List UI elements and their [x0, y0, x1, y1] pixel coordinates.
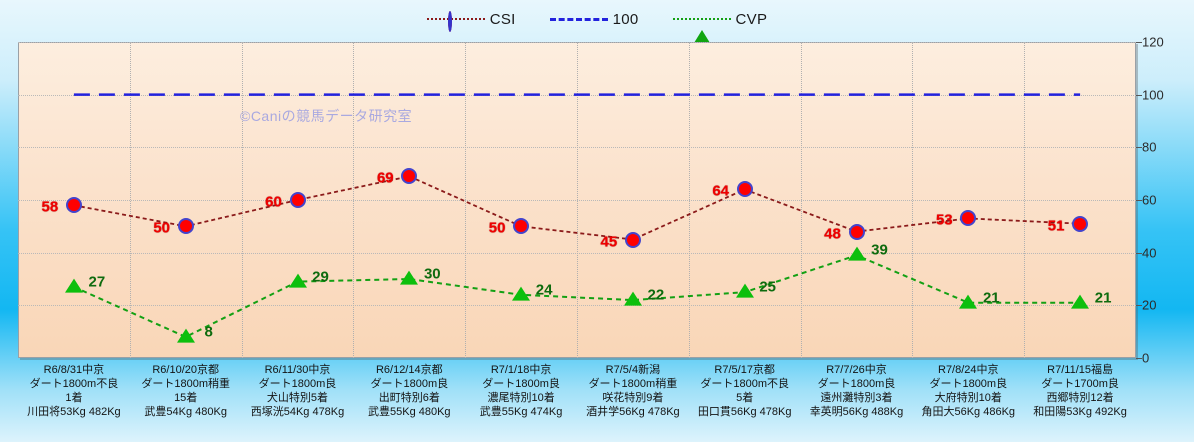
legend-label-cvp: CVP	[736, 11, 768, 28]
x-axis-label-line-course: ダート1800m良	[370, 378, 448, 391]
csi-data-label: 51	[1048, 217, 1065, 234]
x-axis-label-line-jockey: 武豊55Kg 474Kg	[480, 406, 563, 419]
y-axis-tick-label: 80	[1142, 140, 1156, 155]
cvp-data-point[interactable]	[624, 292, 642, 306]
y-axis-tick-mark	[1136, 42, 1142, 43]
x-axis-label-line-course: ダート1800m良	[818, 378, 896, 391]
x-axis-label-line-date: R6/11/30中京	[265, 364, 331, 377]
x-axis-label-line-race: 犬山特別5着	[267, 392, 328, 405]
x-axis-label-line-date: R7/5/17京都	[714, 364, 775, 377]
y-axis-tick-mark	[1136, 147, 1142, 148]
csi-data-label: 58	[42, 199, 59, 216]
x-axis-label-line-race: 5着	[736, 392, 753, 405]
y-axis-tick-label: 40	[1142, 245, 1156, 260]
csi-data-label: 60	[265, 194, 282, 211]
x-axis-label-line-course: ダート1800m良	[482, 378, 560, 391]
series-line	[74, 255, 1080, 337]
cvp-data-point[interactable]	[289, 273, 307, 287]
x-axis-label-group: R7/8/24中京ダート1800m良大府特別10着角田大56Kg 486Kg	[912, 362, 1024, 440]
csi-data-point[interactable]	[1072, 216, 1088, 232]
x-axis-label-line-date: R7/7/26中京	[826, 364, 887, 377]
y-axis-tick-mark	[1136, 95, 1142, 96]
csi-data-point[interactable]	[737, 181, 753, 197]
x-axis-label-line-race: 咲花特別9着	[602, 392, 663, 405]
csi-data-label: 50	[489, 220, 506, 237]
y-axis-tick-mark	[1136, 305, 1142, 306]
x-axis-label-line-jockey: 西塚洸54Kg 478Kg	[251, 406, 345, 419]
csi-data-label: 69	[377, 170, 394, 187]
csi-data-label: 48	[824, 225, 841, 242]
x-axis-label-line-date: R6/12/14京都	[376, 364, 443, 377]
x-axis-label-line-race: 濃尾特別10着	[487, 392, 554, 405]
csi-data-point[interactable]	[513, 218, 529, 234]
cvp-data-point[interactable]	[512, 286, 530, 300]
cvp-data-label: 8	[205, 323, 213, 340]
y-axis-tick-label: 120	[1142, 35, 1164, 50]
series-line	[74, 176, 1080, 239]
race-performance-chart: CSI 100 CVP ©Caniの競馬データ研究室 5850606950456…	[0, 0, 1194, 442]
x-axis-label-group: R7/5/4新潟ダート1800m稍重咲花特別9着酒井学56Kg 478Kg	[577, 362, 689, 440]
legend-item-csi[interactable]: CSI	[427, 11, 516, 28]
x-axis-label-line-date: R7/5/4新潟	[606, 364, 660, 377]
x-axis-label-line-date: R7/1/18中京	[491, 364, 552, 377]
x-axis-label-line-jockey: 田口貫56Kg 478Kg	[698, 406, 792, 419]
x-axis-label-line-race: 遠州灘特別3着	[820, 392, 892, 405]
x-axis-label-group: R6/10/20京都ダート1800m稍重15着武豊54Kg 480Kg	[130, 362, 242, 440]
series-lines	[18, 42, 1136, 358]
y-axis-tick-label: 60	[1142, 193, 1156, 208]
cvp-data-point[interactable]	[65, 278, 83, 292]
x-axis-label-line-jockey: 武豊55Kg 480Kg	[368, 406, 451, 419]
cvp-data-point[interactable]	[1071, 294, 1089, 308]
csi-data-point[interactable]	[849, 224, 865, 240]
x-axis-labels: R6/8/31中京ダート1800m不良1着川田将53Kg 482KgR6/10/…	[18, 362, 1136, 440]
csi-data-label: 45	[601, 233, 618, 250]
x-axis-label-line-race: 出町特別6着	[379, 392, 440, 405]
legend-label-100: 100	[613, 11, 639, 28]
cvp-data-point[interactable]	[736, 284, 754, 298]
x-axis-label-group: R6/8/31中京ダート1800m不良1着川田将53Kg 482Kg	[18, 362, 130, 440]
csi-data-point[interactable]	[290, 192, 306, 208]
csi-data-point[interactable]	[401, 168, 417, 184]
x-axis-label-line-course: ダート1800m稍重	[589, 378, 678, 391]
cvp-data-label: 39	[871, 242, 888, 259]
cvp-data-label: 29	[312, 268, 329, 285]
circle-marker-icon	[448, 13, 452, 31]
x-axis-label-line-jockey: 川田将53Kg 482Kg	[27, 406, 121, 419]
x-axis-label-line-course: ダート1800m稍重	[141, 378, 230, 391]
x-axis-label-line-date: R6/10/20京都	[152, 364, 219, 377]
dashed-line-icon	[550, 18, 608, 21]
y-axis-tick-mark	[1136, 200, 1142, 201]
legend-item-cvp[interactable]: CVP	[673, 11, 768, 28]
x-axis-label-line-jockey: 角田大56Kg 486Kg	[921, 406, 1015, 419]
x-axis-label-line-race: 15着	[174, 392, 197, 405]
cvp-data-label: 21	[983, 289, 1000, 306]
y-axis-tick-label: 0	[1142, 351, 1149, 366]
x-axis-label-line-race: 1着	[65, 392, 82, 405]
x-axis-label-line-jockey: 武豊54Kg 480Kg	[144, 406, 227, 419]
cvp-data-point[interactable]	[959, 294, 977, 308]
y-axis-tick-mark	[1136, 253, 1142, 254]
x-axis-label-line-course: ダート1800m不良	[30, 378, 119, 391]
cvp-data-point[interactable]	[177, 329, 195, 343]
legend-item-100[interactable]: 100	[550, 11, 639, 28]
cvp-data-label: 27	[89, 273, 106, 290]
x-axis-label-line-jockey: 和田陽53Kg 492Kg	[1033, 406, 1127, 419]
x-axis-label-line-course: ダート1800m良	[259, 378, 337, 391]
x-axis-label-line-date: R7/11/15福島	[1047, 364, 1113, 377]
x-axis-label-group: R7/7/26中京ダート1800m良遠州灘特別3着幸英明56Kg 488Kg	[801, 362, 913, 440]
csi-legend-sample	[427, 11, 485, 27]
cvp-data-label: 22	[648, 287, 665, 304]
x-axis-label-group: R7/11/15福島ダート1700m良西郷特別12着和田陽53Kg 492Kg	[1024, 362, 1136, 440]
x-axis-label-line-race: 西郷特別12着	[1046, 392, 1113, 405]
y-axis-tick-label: 20	[1142, 298, 1156, 313]
cvp-data-label: 21	[1095, 289, 1112, 306]
y-axis-tick-mark	[1136, 358, 1142, 359]
cvp-data-label: 24	[536, 281, 553, 298]
x-axis-label-line-race: 大府特別10着	[935, 392, 1002, 405]
plot-wrapper: ©Caniの競馬データ研究室 5850606950456448535127829…	[18, 42, 1136, 358]
x-axis-label-line-date: R7/8/24中京	[938, 364, 999, 377]
legend-label-csi: CSI	[490, 11, 516, 28]
triangle-marker-icon	[694, 13, 710, 31]
x-axis-label-line-course: ダート1800m不良	[700, 378, 789, 391]
cvp-data-label: 30	[424, 266, 441, 283]
cvp-data-label: 25	[759, 279, 776, 296]
ref100-legend-sample	[550, 11, 608, 27]
y-axis-tick-label: 100	[1142, 87, 1164, 102]
csi-data-point[interactable]	[625, 232, 641, 248]
x-axis-label-group: R6/12/14京都ダート1800m良出町特別6着武豊55Kg 480Kg	[353, 362, 465, 440]
csi-data-label: 64	[712, 183, 729, 200]
x-axis-label-line-date: R6/8/31中京	[44, 364, 105, 377]
cvp-legend-sample	[673, 11, 731, 27]
cvp-data-point[interactable]	[848, 247, 866, 261]
x-axis-label-line-course: ダート1800m良	[929, 378, 1007, 391]
csi-data-point[interactable]	[178, 218, 194, 234]
csi-data-point[interactable]	[960, 210, 976, 226]
csi-data-label: 53	[936, 212, 953, 229]
x-axis-label-line-course: ダート1700m良	[1041, 378, 1119, 391]
csi-data-label: 50	[153, 220, 170, 237]
csi-data-point[interactable]	[66, 197, 82, 213]
x-axis-label-group: R6/11/30中京ダート1800m良犬山特別5着西塚洸54Kg 478Kg	[242, 362, 354, 440]
cvp-data-point[interactable]	[400, 271, 418, 285]
x-axis-label-group: R7/1/18中京ダート1800m良濃尾特別10着武豊55Kg 474Kg	[465, 362, 577, 440]
x-axis-label-line-jockey: 幸英明56Kg 488Kg	[810, 406, 904, 419]
chart-legend: CSI 100 CVP	[0, 6, 1194, 32]
x-axis-label-group: R7/5/17京都ダート1800m不良5着田口貫56Kg 478Kg	[689, 362, 801, 440]
x-axis-label-line-jockey: 酒井学56Kg 478Kg	[586, 406, 680, 419]
